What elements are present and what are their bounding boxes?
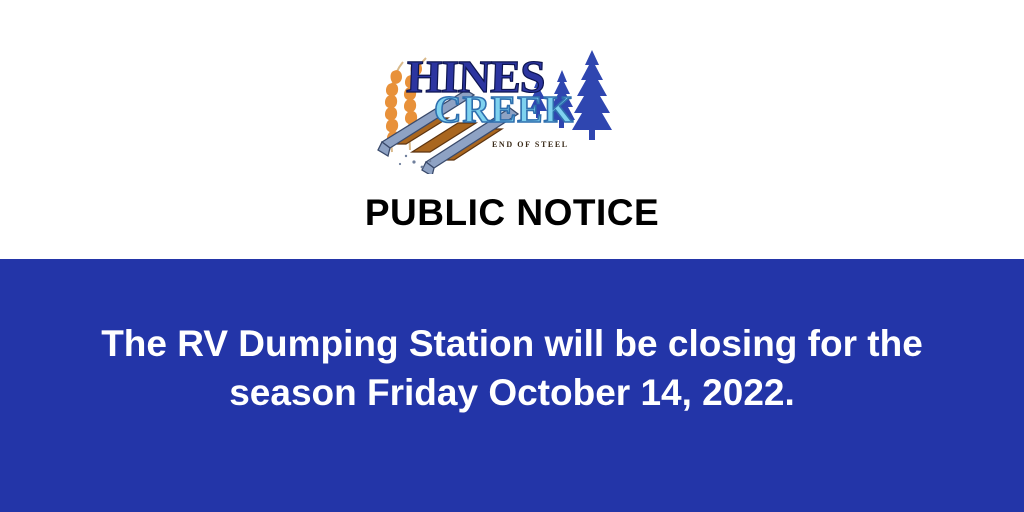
header-section: HINES CREEK END OF STEEL PUBLIC NOTICE	[0, 0, 1024, 259]
page-title: PUBLIC NOTICE	[0, 191, 1024, 235]
public-notice-poster: HINES CREEK END OF STEEL PUBLIC NOTICE T…	[0, 0, 1024, 512]
logo-graphic: HINES CREEK END OF STEEL	[370, 34, 630, 174]
notice-message: The RV Dumping Station will be closing f…	[50, 319, 974, 417]
logo-tagline: END OF STEEL	[492, 140, 569, 149]
logo-word-creek: CREEK	[434, 89, 574, 131]
hines-creek-logo: HINES CREEK END OF STEEL	[370, 34, 630, 174]
notice-message-line-2: season Friday October 14, 2022.	[229, 372, 795, 413]
notice-banner: The RV Dumping Station will be closing f…	[0, 259, 1024, 512]
notice-message-line-1: The RV Dumping Station will be closing f…	[101, 323, 923, 364]
